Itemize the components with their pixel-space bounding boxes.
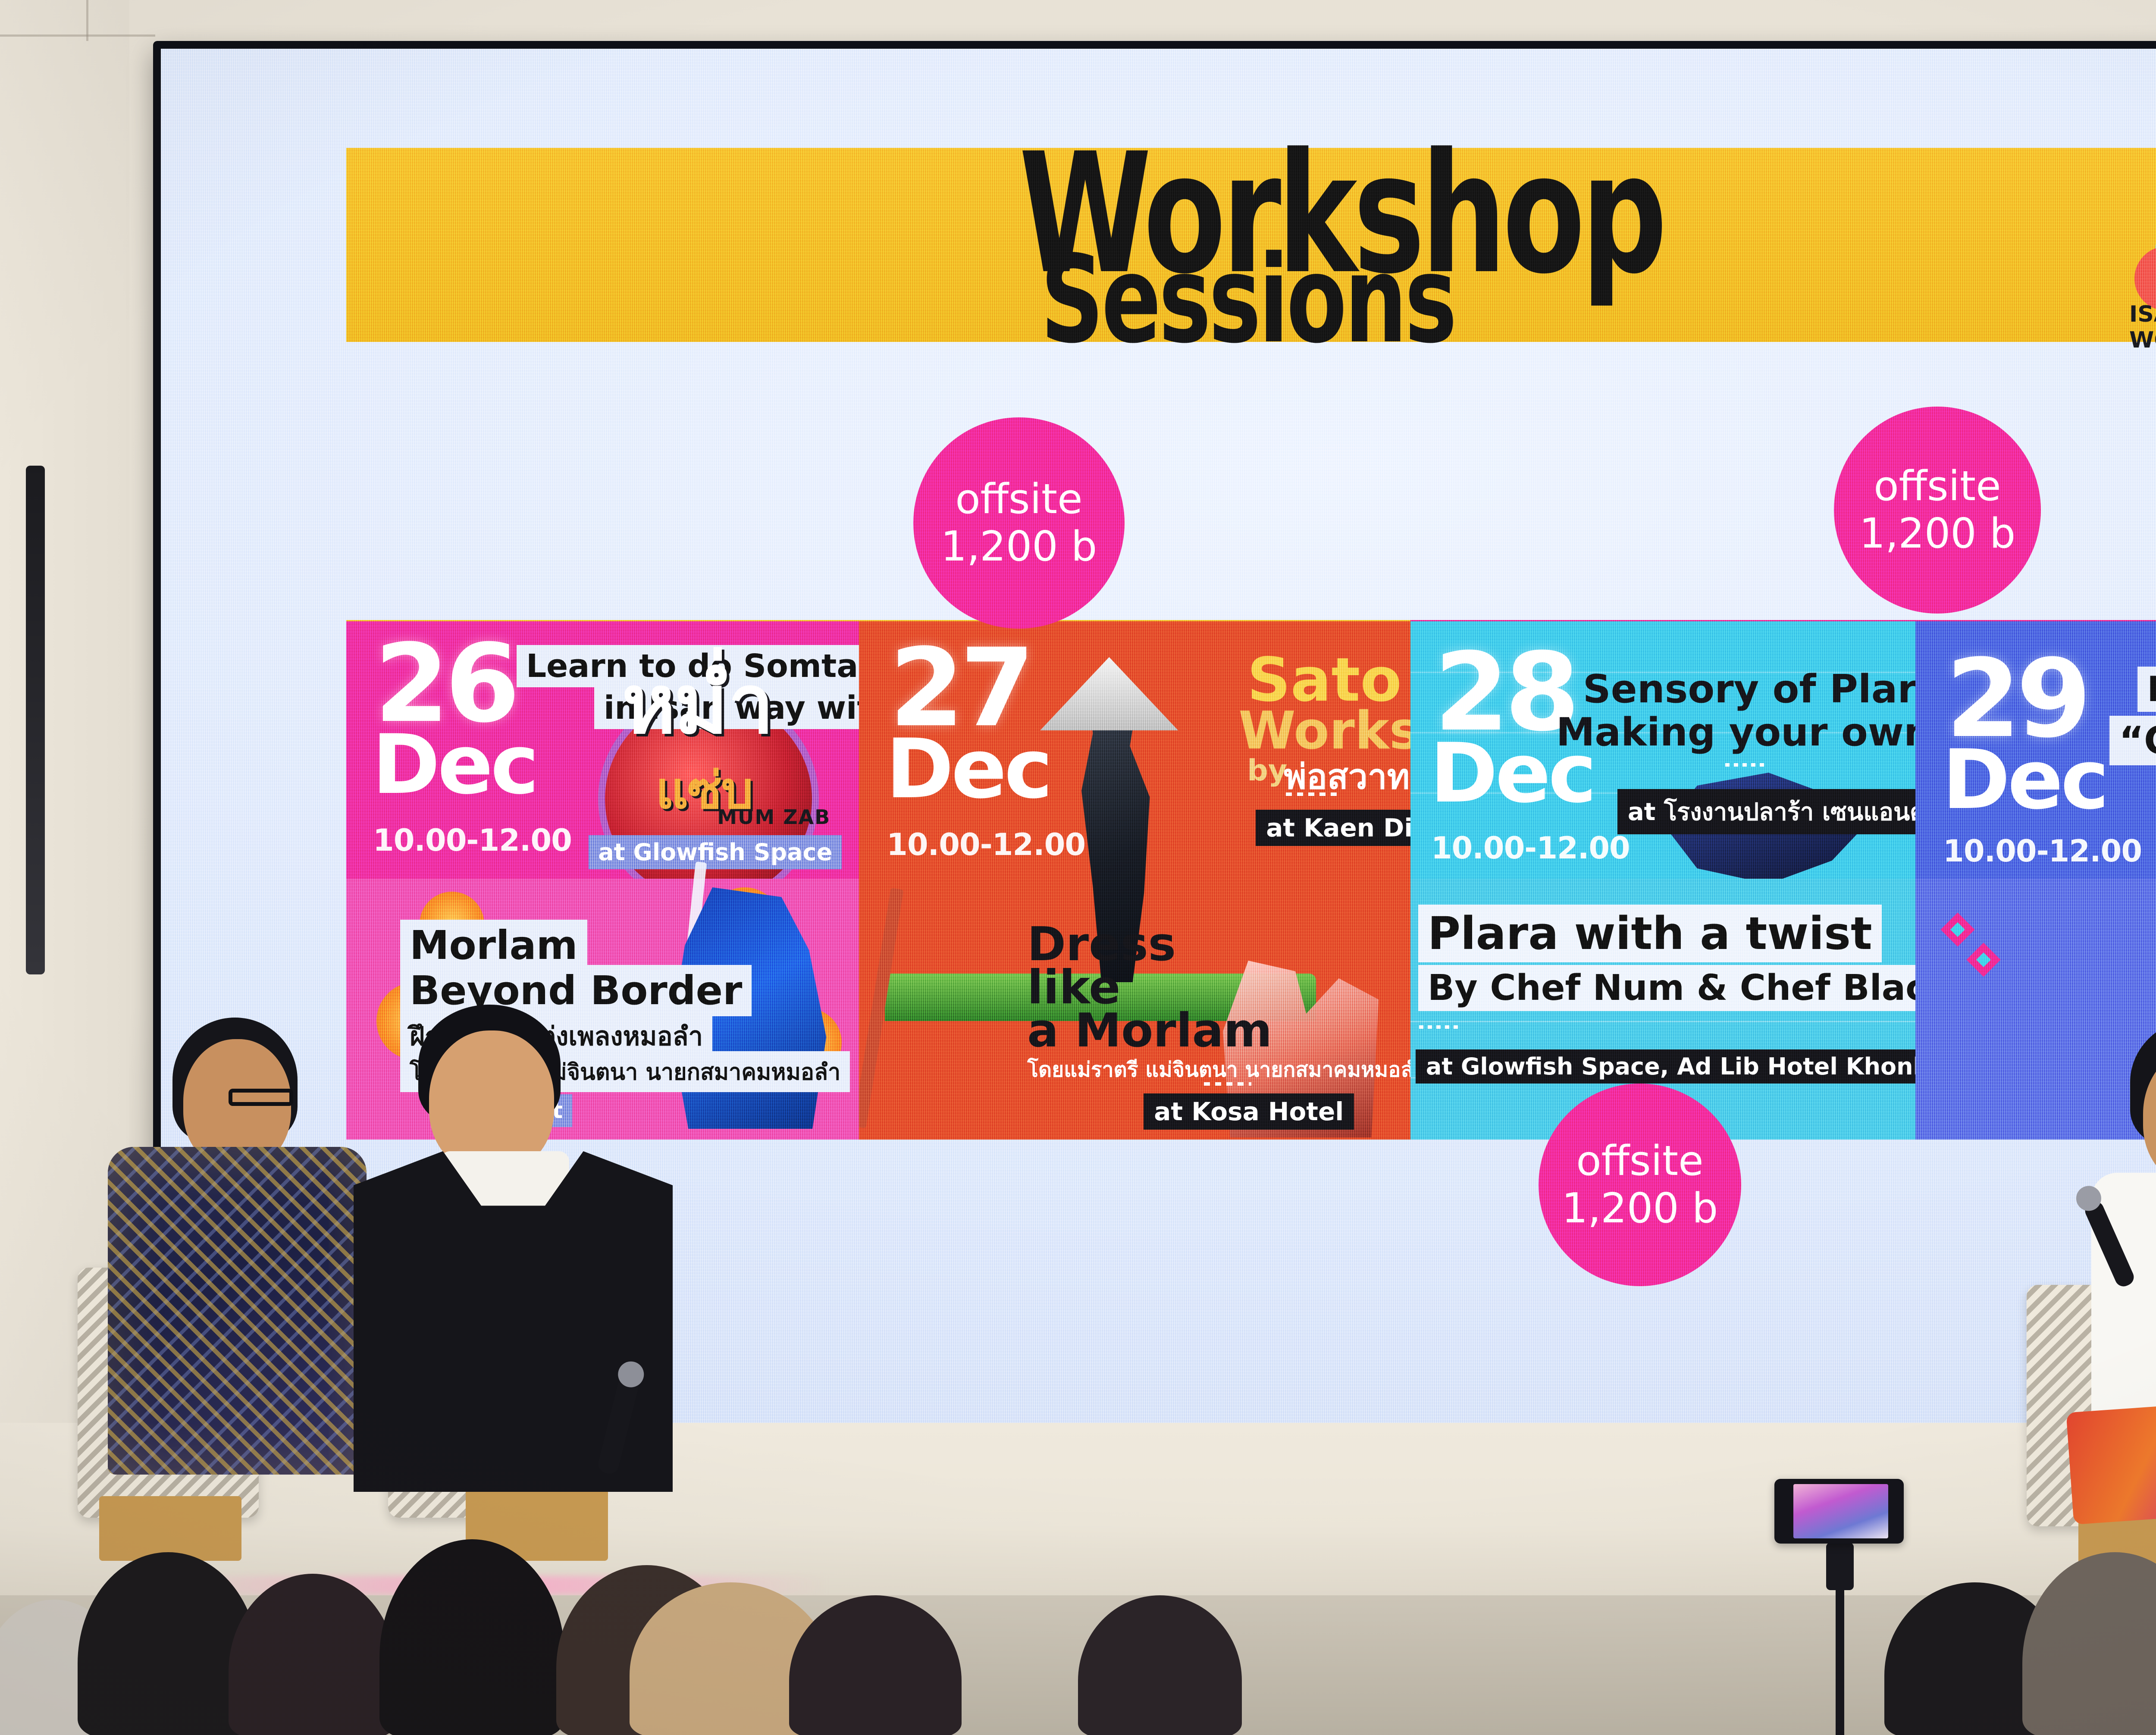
wall-speaker-strip xyxy=(26,466,45,974)
card3-top-panel: 28 Dec 10.00-12.00 Sensory of Plara Maki… xyxy=(1410,620,1915,879)
card1-date-month: Dec xyxy=(372,730,536,800)
card4-date-time: 10.00-12.00 xyxy=(1943,833,2142,869)
card2-by-prefix: by xyxy=(1247,754,1287,788)
card1-top-panel: 26 Dec 10.00-12.00 Learn to do Somtam in… xyxy=(346,620,859,879)
offsite-label: offsite xyxy=(1576,1137,1703,1185)
card2-venue: at Kaen Dining xyxy=(1256,810,1410,846)
card3-date-time: 10.00-12.00 xyxy=(1431,830,1630,866)
card1-brand-thai: หม่ำ xyxy=(622,667,846,741)
card3-headline-line2: Making your own Plara xyxy=(1556,710,1915,755)
logo-tagline: ISAN TO THE WORLD '24 xyxy=(2129,301,2156,353)
offsite-price: 1,200 b xyxy=(941,523,1097,570)
card4-headline-line1: How to make xyxy=(2137,667,2156,712)
offsite-price: 1,200 b xyxy=(1562,1185,1718,1232)
poster-title-line2: Sessions xyxy=(1040,239,1454,360)
card2-yellow-edge xyxy=(859,620,1410,621)
audience-head xyxy=(2022,1552,2156,1735)
card2-date-time: 10.00-12.00 xyxy=(887,827,1085,862)
card4-date-number: 29 xyxy=(1946,655,2087,743)
audience-head xyxy=(379,1539,565,1735)
card1-venue: at Glowfish Space xyxy=(589,835,842,869)
offsite-label: offsite xyxy=(955,476,1082,523)
card3-date-number: 28 xyxy=(1434,648,1576,736)
card2-bottom-venue: at Kosa Hotel xyxy=(1144,1093,1354,1130)
card1-date-time: 10.00-12.00 xyxy=(373,823,572,858)
offsite-badge-2: offsite 1,200 b xyxy=(1834,407,2041,614)
diamond-motif-icon xyxy=(1941,912,1975,946)
audience-head xyxy=(789,1595,962,1735)
audience-row xyxy=(0,1401,2156,1735)
card3-pink-edge xyxy=(1410,620,1915,621)
wall-seam xyxy=(86,0,88,41)
offsite-label: offsite xyxy=(1874,463,2001,510)
offsite-price: 1,200 b xyxy=(1859,510,2015,557)
card3-by: By Chef Num & Chef Black xyxy=(1418,965,1915,1011)
card1-title-line1: Morlam xyxy=(400,920,587,971)
wall-seam xyxy=(0,34,155,37)
offsite-badge-1: offsite 1,200 b xyxy=(913,417,1125,629)
card2-date-month: Dec xyxy=(886,734,1050,804)
card3-bottom-venue: at Glowfish Space, Ad Lib Hotel Khonkaen xyxy=(1416,1049,1915,1084)
card4-pink-edge xyxy=(1915,620,2156,621)
card2-date-number: 27 xyxy=(889,644,1031,732)
card4-headline-line2: “Good” Plara xyxy=(2109,716,2156,765)
card1-date-number: 26 xyxy=(374,639,516,728)
workshop-card-27dec[interactable]: 27 Dec 10.00-12.00 Sato Workshop by พ่อส… xyxy=(859,620,1410,1140)
card3-title-line1: Plara with a twist xyxy=(1418,905,1882,962)
conical-hat-icon xyxy=(1040,657,1178,730)
audience-head xyxy=(1078,1595,1242,1735)
card3-headline-line1: Sensory of Plara xyxy=(1583,667,1915,712)
card4-date-month: Dec xyxy=(1942,745,2106,815)
offsite-badge-4: offsite 1,200 b xyxy=(1539,1084,1741,1286)
card1-brand-en: MUM ZAB xyxy=(717,805,830,829)
audience-head xyxy=(229,1574,397,1735)
card4-top-panel: 29 Dec 10.00-12.00 How to make “Good” Pl… xyxy=(1915,620,2156,879)
diamond-motif-icon xyxy=(1967,943,2001,977)
glasses-icon xyxy=(229,1089,293,1106)
poster-title-band: Workshop Sessions ปลาร้า หมอลำ ISAN TO T… xyxy=(346,148,2156,342)
workshop-card-28dec[interactable]: 28 Dec 10.00-12.00 Sensory of Plara Maki… xyxy=(1410,620,1915,1140)
card2-title-line3: a Morlam xyxy=(1027,1004,1272,1058)
card3-venue: at โรงงานปลาร้า เซนแอนด์โกศุม xyxy=(1617,789,1915,834)
event-logo: ปลาร้า หมอลำ ISAN TO THE WORLD '24 xyxy=(2125,164,2156,332)
card2-thai-by: โดยแม่ราตรี แม่จินตนา นายกสมาคมหมอลำ xyxy=(1027,1053,1410,1086)
